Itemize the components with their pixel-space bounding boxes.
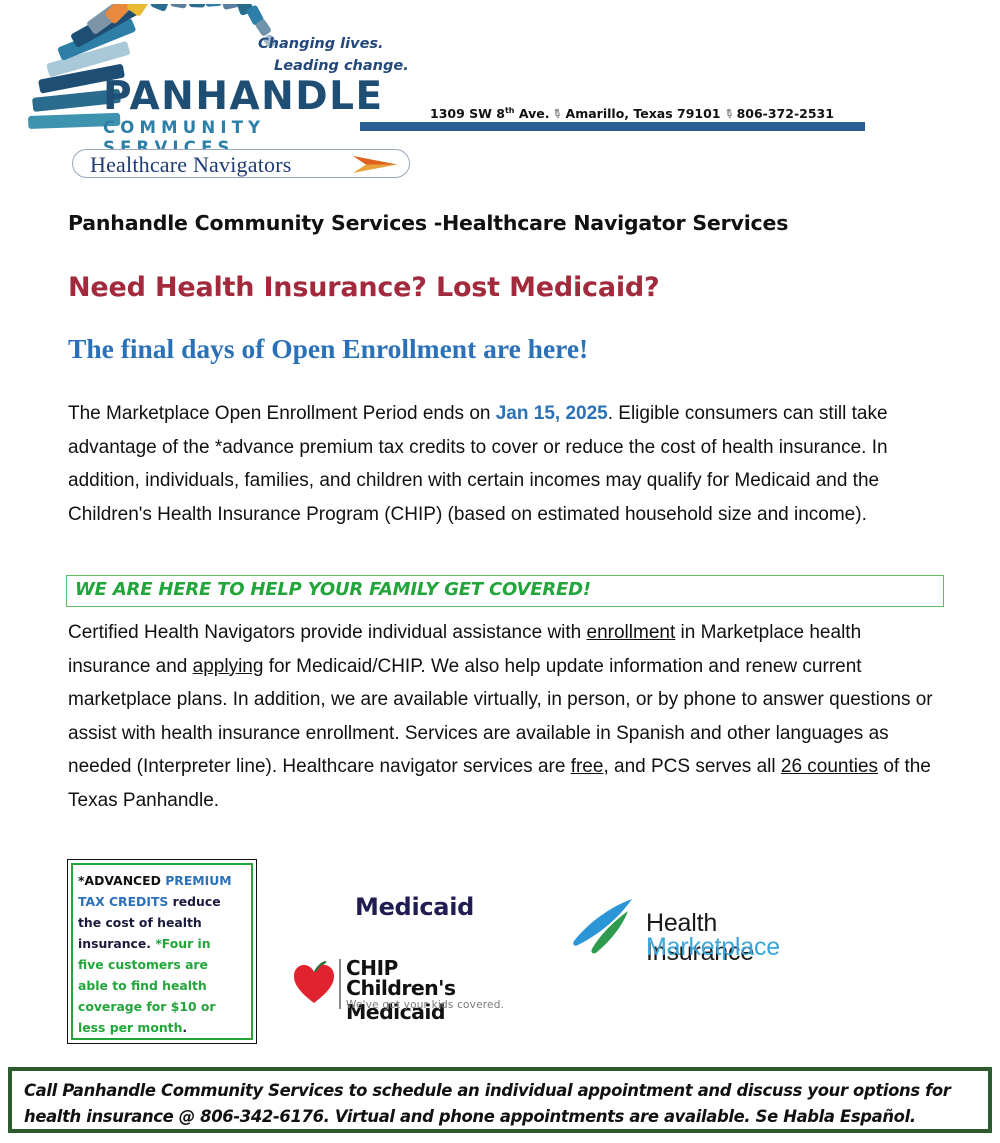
logo-tagline: Changing lives. Leading change. [258,33,409,77]
tagline-line-1: Changing lives. [258,36,384,52]
heading-final-days: The final days of Open Enrollment are he… [68,333,588,365]
arrow-right-icon [353,155,397,174]
paragraph-open-enrollment: The Marketplace Open Enrollment Period e… [68,397,948,531]
marketplace-line-2: Marketplace [646,933,780,962]
callout-text: WE ARE HERE TO HELP YOUR FAMILY GET COVE… [75,579,591,600]
chip-logo: CHIP Children's Medicaid We've got your … [292,958,522,1014]
address-phone: 806-372-2531 [737,106,834,121]
health-insurance-marketplace-logo: Health Insurance Marketplace [570,897,820,967]
page-subtitle: Panhandle Community Services -Healthcare… [68,211,788,235]
paragraph-2-part-4: , and PCS serves all [603,756,780,777]
underlined-enrollment: enrollment [587,622,676,643]
footer-call-to-action-box: Call Panhandle Community Services to sch… [8,1067,992,1133]
premium-tax-credits-info-box: *ADVANCED PREMIUM TAX CREDITS reduce the… [67,859,257,1044]
paragraph-2-part-1: Certified Health Navigators provide indi… [68,622,587,643]
page-header: PANHANDLE COMMUNITY SERVICES Changing li… [0,0,1000,190]
medicaid-logo: Medicaid [355,893,474,921]
heart-apple-icon [292,961,336,1005]
wordmark-main: PANHANDLE [103,78,403,116]
marketplace-swoosh-icon [570,897,648,959]
healthcare-navigators-label: Healthcare Navigators [90,152,292,178]
info-box-text: *ADVANCED PREMIUM TAX CREDITS reduce the… [78,870,236,1038]
address-street: 1309 SW 8 [430,106,505,121]
paragraph-1-part-1: The Marketplace Open Enrollment Period e… [68,403,496,424]
pcs-wordmark: PANHANDLE COMMUNITY SERVICES [103,78,403,158]
info-advanced-label: *ADVANCED [78,873,165,888]
chip-logo-divider [339,959,341,1009]
info-end-period: . [182,1020,187,1035]
heading-need-health-insurance: Need Health Insurance? Lost Medicaid? [68,272,660,303]
underlined-free: free [571,756,604,777]
callout-box: WE ARE HERE TO HELP YOUR FAMILY GET COVE… [66,575,944,607]
address-street-rest: Ave. [515,106,550,121]
footer-text: Call Panhandle Community Services to sch… [24,1078,976,1130]
underlined-applying: applying [193,656,264,677]
healthcare-navigators-badge: Healthcare Navigators [72,149,410,178]
address-city: Amarillo, Texas 79101 [566,106,721,121]
deadline-date: Jan 15, 2025 [496,403,608,424]
tagline-line-2: Leading change. [258,55,409,77]
underlined-26-counties: 26 counties [781,756,878,777]
header-rule-bar [360,122,865,131]
address-street-ordinal: th [505,106,515,115]
chip-logo-tagline: We've got your kids covered. [346,999,504,1011]
address-line: 1309 SW 8th Ave.✎Amarillo, Texas 79101✎8… [430,106,834,121]
paragraph-navigator-services: Certified Health Navigators provide indi… [68,616,948,817]
